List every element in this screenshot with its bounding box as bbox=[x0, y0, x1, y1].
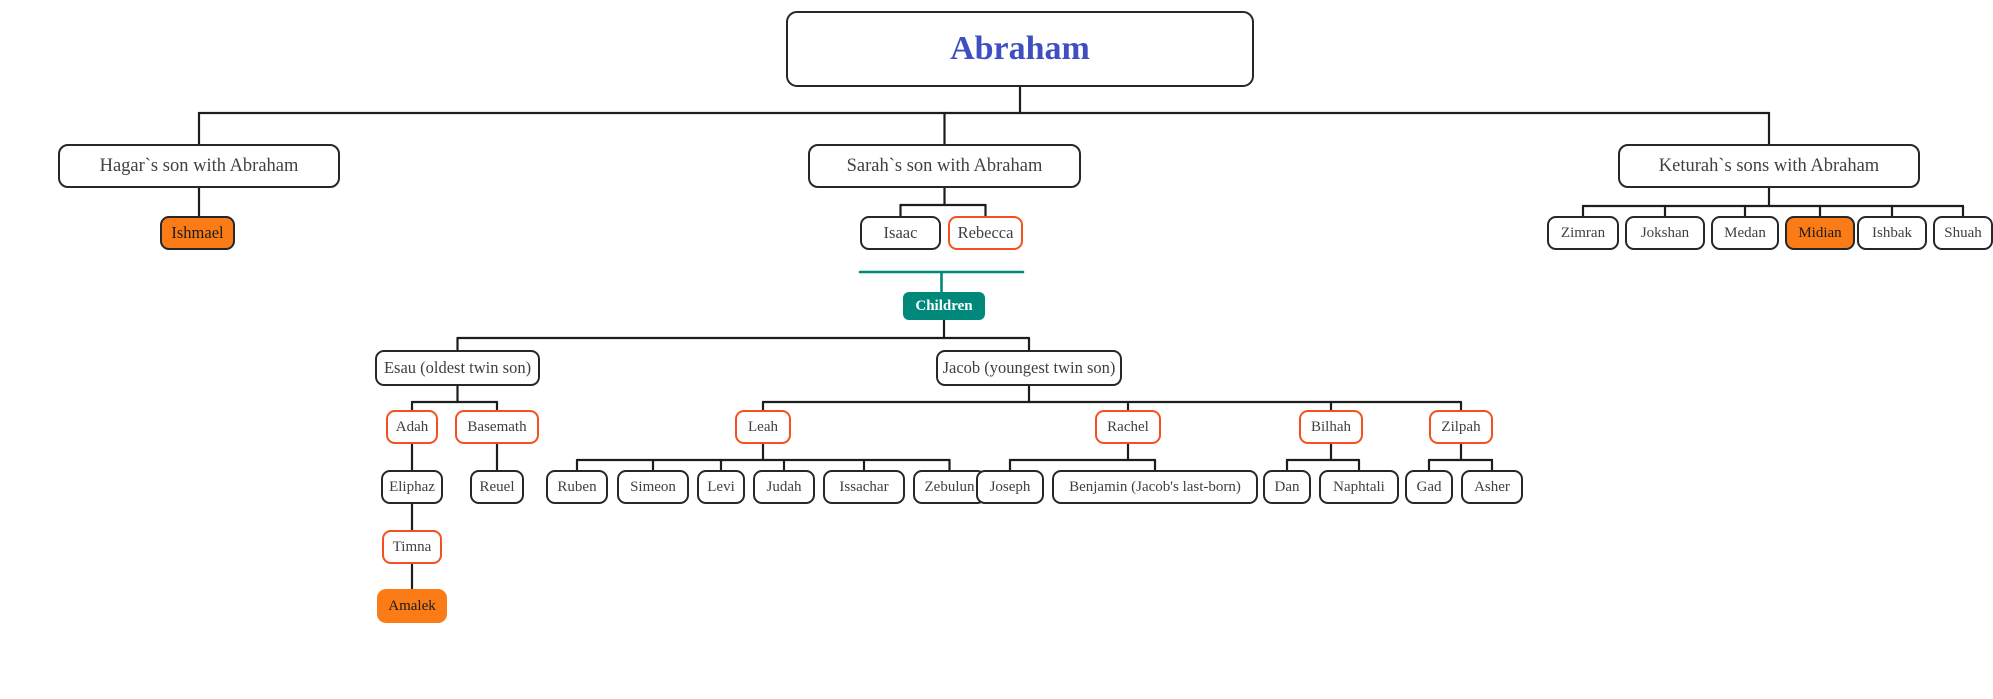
node-rachel[interactable]: Rachel bbox=[1095, 410, 1161, 444]
node-simeon[interactable]: Simeon bbox=[617, 470, 689, 504]
node-judah[interactable]: Judah bbox=[753, 470, 815, 504]
node-joseph[interactable]: Joseph bbox=[976, 470, 1044, 504]
node-basemath[interactable]: Basemath bbox=[455, 410, 539, 444]
node-dan[interactable]: Dan bbox=[1263, 470, 1311, 504]
family-tree-diagram: AbrahamHagar`s son with AbrahamSarah`s s… bbox=[0, 0, 1993, 699]
node-adah[interactable]: Adah bbox=[386, 410, 438, 444]
node-amalek[interactable]: Amalek bbox=[377, 589, 447, 623]
node-issachar[interactable]: Issachar bbox=[823, 470, 905, 504]
node-abraham[interactable]: Abraham bbox=[786, 11, 1254, 87]
node-levi[interactable]: Levi bbox=[697, 470, 745, 504]
node-jokshan[interactable]: Jokshan bbox=[1625, 216, 1705, 250]
node-isaac[interactable]: Isaac bbox=[860, 216, 941, 250]
node-gad[interactable]: Gad bbox=[1405, 470, 1453, 504]
node-eliphaz[interactable]: Eliphaz bbox=[381, 470, 443, 504]
children-union-badge[interactable]: Children bbox=[903, 292, 985, 320]
node-esau[interactable]: Esau (oldest twin son) bbox=[375, 350, 540, 386]
group-sarah[interactable]: Sarah`s son with Abraham bbox=[808, 144, 1081, 188]
node-jacob[interactable]: Jacob (youngest twin son) bbox=[936, 350, 1122, 386]
node-medan[interactable]: Medan bbox=[1711, 216, 1779, 250]
group-hagar[interactable]: Hagar`s son with Abraham bbox=[58, 144, 340, 188]
node-zilpah[interactable]: Zilpah bbox=[1429, 410, 1493, 444]
node-ruben[interactable]: Ruben bbox=[546, 470, 608, 504]
node-bilhah[interactable]: Bilhah bbox=[1299, 410, 1363, 444]
node-leah[interactable]: Leah bbox=[735, 410, 791, 444]
node-reuel[interactable]: Reuel bbox=[470, 470, 524, 504]
node-rebecca[interactable]: Rebecca bbox=[948, 216, 1023, 250]
node-naphtali[interactable]: Naphtali bbox=[1319, 470, 1399, 504]
node-shuah[interactable]: Shuah bbox=[1933, 216, 1993, 250]
group-keturah[interactable]: Keturah`s sons with Abraham bbox=[1618, 144, 1920, 188]
node-ishmael[interactable]: Ishmael bbox=[160, 216, 235, 250]
node-timna[interactable]: Timna bbox=[382, 530, 442, 564]
node-asher[interactable]: Asher bbox=[1461, 470, 1523, 504]
node-midian[interactable]: Midian bbox=[1785, 216, 1855, 250]
node-benjamin-jacob-s-last-born[interactable]: Benjamin (Jacob's last-born) bbox=[1052, 470, 1258, 504]
node-zimran[interactable]: Zimran bbox=[1547, 216, 1619, 250]
node-ishbak[interactable]: Ishbak bbox=[1857, 216, 1927, 250]
